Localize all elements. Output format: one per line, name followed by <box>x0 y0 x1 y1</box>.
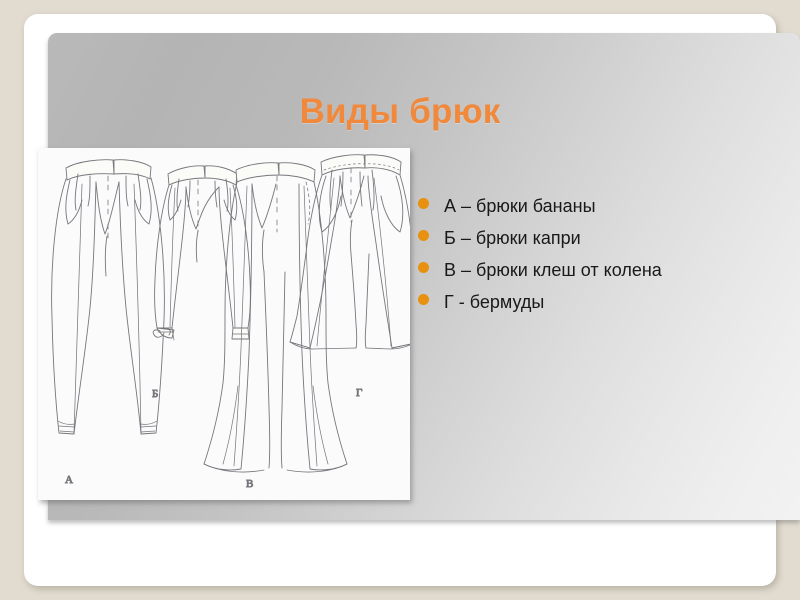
list-item: Б – брюки капри <box>418 228 766 253</box>
figure-label-v: В <box>246 478 253 490</box>
list-item-label: Б – брюки капри <box>444 228 581 249</box>
list-item: Г - бермуды <box>418 292 766 317</box>
slide-frame: Виды брюк <box>24 14 776 586</box>
list-item-label: А – брюки бананы <box>444 196 596 217</box>
list-item-label: В – брюки клеш от колена <box>444 260 662 281</box>
figure-label-b: Б <box>152 388 158 400</box>
bullet-dot-icon <box>418 262 429 273</box>
figure-g-bermuda-trousers <box>290 155 410 349</box>
bullet-dot-icon <box>418 294 429 305</box>
trousers-illustration-image: А <box>38 148 410 500</box>
bullet-dot-icon <box>418 198 429 209</box>
page-title: Виды брюк <box>24 92 776 132</box>
figure-label-a: А <box>65 474 73 486</box>
list-item-label: Г - бермуды <box>444 292 544 313</box>
list-item: В – брюки клеш от колена <box>418 260 766 285</box>
trouser-types-list: А – брюки бананы Б – брюки капри В – брю… <box>418 196 766 324</box>
figure-label-g: Г <box>356 387 362 399</box>
figure-b-capri-trousers <box>153 166 250 340</box>
figure-v-knee-flare-trousers <box>204 163 347 472</box>
figure-a-banana-trousers <box>52 160 165 434</box>
trousers-line-drawing: А <box>38 148 410 500</box>
bullet-dot-icon <box>418 230 429 241</box>
list-item: А – брюки бананы <box>418 196 766 221</box>
